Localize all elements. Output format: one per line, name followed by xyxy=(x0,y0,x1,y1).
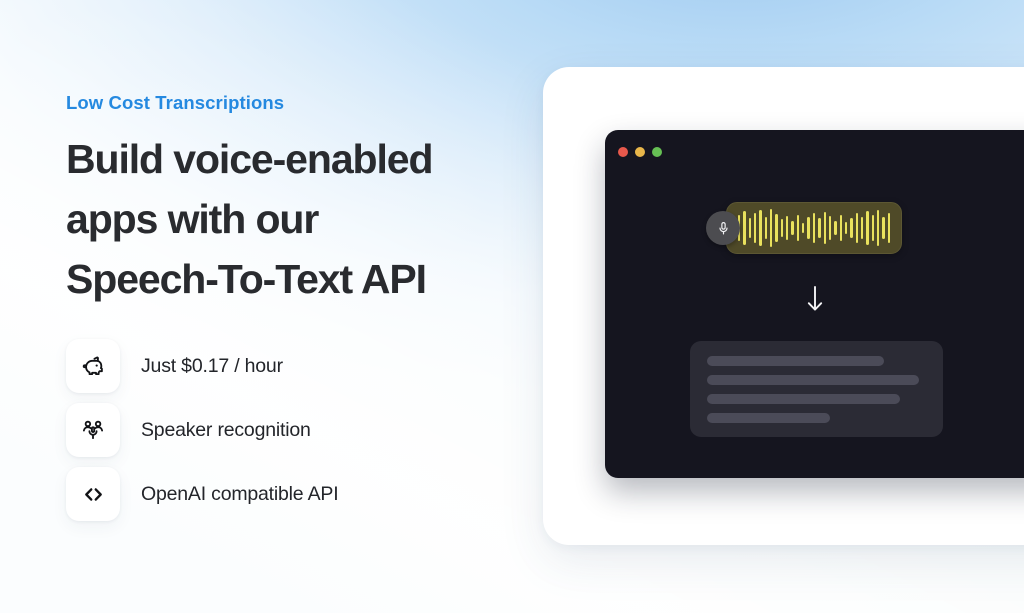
waveform-bar xyxy=(813,213,815,243)
waveform-bar xyxy=(845,222,847,234)
feature-list: Just $0.17 / hour Speaker recognition xyxy=(66,339,338,521)
eyebrow-label: Low Cost Transcriptions xyxy=(66,92,526,114)
page-title: Build voice-enabled apps with our Speech… xyxy=(66,129,526,309)
headline-line-2: apps with our xyxy=(66,189,526,249)
waveform-bar xyxy=(882,217,884,239)
list-item: Just $0.17 / hour xyxy=(66,339,338,393)
transcript-line xyxy=(707,394,900,404)
code-brackets-icon xyxy=(66,467,120,521)
waveform-bar xyxy=(786,216,788,240)
microphone-icon xyxy=(706,211,740,245)
waveform-bar xyxy=(861,217,863,239)
app-window-mockup xyxy=(605,130,1024,478)
list-item: Speaker recognition xyxy=(66,403,338,457)
list-item-label: OpenAI compatible API xyxy=(141,483,338,506)
waveform-bar xyxy=(807,217,809,239)
waveform-bar xyxy=(866,211,868,245)
window-titlebar xyxy=(618,147,662,157)
speaker-recognition-icon xyxy=(66,403,120,457)
transcript-panel xyxy=(690,341,943,437)
waveform-bar xyxy=(856,213,858,243)
waveform-bar xyxy=(781,219,783,237)
transcript-line xyxy=(707,375,919,385)
waveform-bar xyxy=(791,221,793,235)
waveform-bar xyxy=(775,214,777,242)
voice-message xyxy=(726,202,902,254)
waveform-bar xyxy=(749,218,751,238)
transcript-line xyxy=(707,413,830,423)
waveform-bar xyxy=(797,215,799,241)
waveform-bar xyxy=(743,211,745,245)
minimize-dot[interactable] xyxy=(635,147,645,157)
waveform-bar xyxy=(829,216,831,240)
maximize-dot[interactable] xyxy=(652,147,662,157)
waveform-bar xyxy=(765,217,767,239)
waveform-bar xyxy=(759,210,761,246)
hero-section: Low Cost Transcriptions Build voice-enab… xyxy=(0,0,1024,613)
waveform-bar xyxy=(888,213,890,243)
arrow-down-icon xyxy=(805,285,825,313)
list-item: OpenAI compatible API xyxy=(66,467,338,521)
headline-line-3: Speech-To-Text API xyxy=(66,249,526,309)
waveform-bar xyxy=(818,218,820,238)
headline-line-1: Build voice-enabled xyxy=(66,129,526,189)
waveform-bar xyxy=(872,215,874,241)
waveform-bar xyxy=(802,223,804,233)
waveform-bar xyxy=(754,213,756,243)
hero-copy: Low Cost Transcriptions Build voice-enab… xyxy=(66,92,526,309)
list-item-label: Speaker recognition xyxy=(141,419,311,442)
waveform-bar xyxy=(834,221,836,235)
transcript-line xyxy=(707,356,884,366)
waveform-bar xyxy=(770,209,772,247)
waveform-bar xyxy=(850,218,852,238)
list-item-label: Just $0.17 / hour xyxy=(141,355,283,378)
waveform-bar xyxy=(824,212,826,244)
waveform-bar xyxy=(877,210,879,246)
waveform-bar xyxy=(840,215,842,241)
close-dot[interactable] xyxy=(618,147,628,157)
waveform-bubble[interactable] xyxy=(726,202,902,254)
piggy-bank-icon xyxy=(66,339,120,393)
